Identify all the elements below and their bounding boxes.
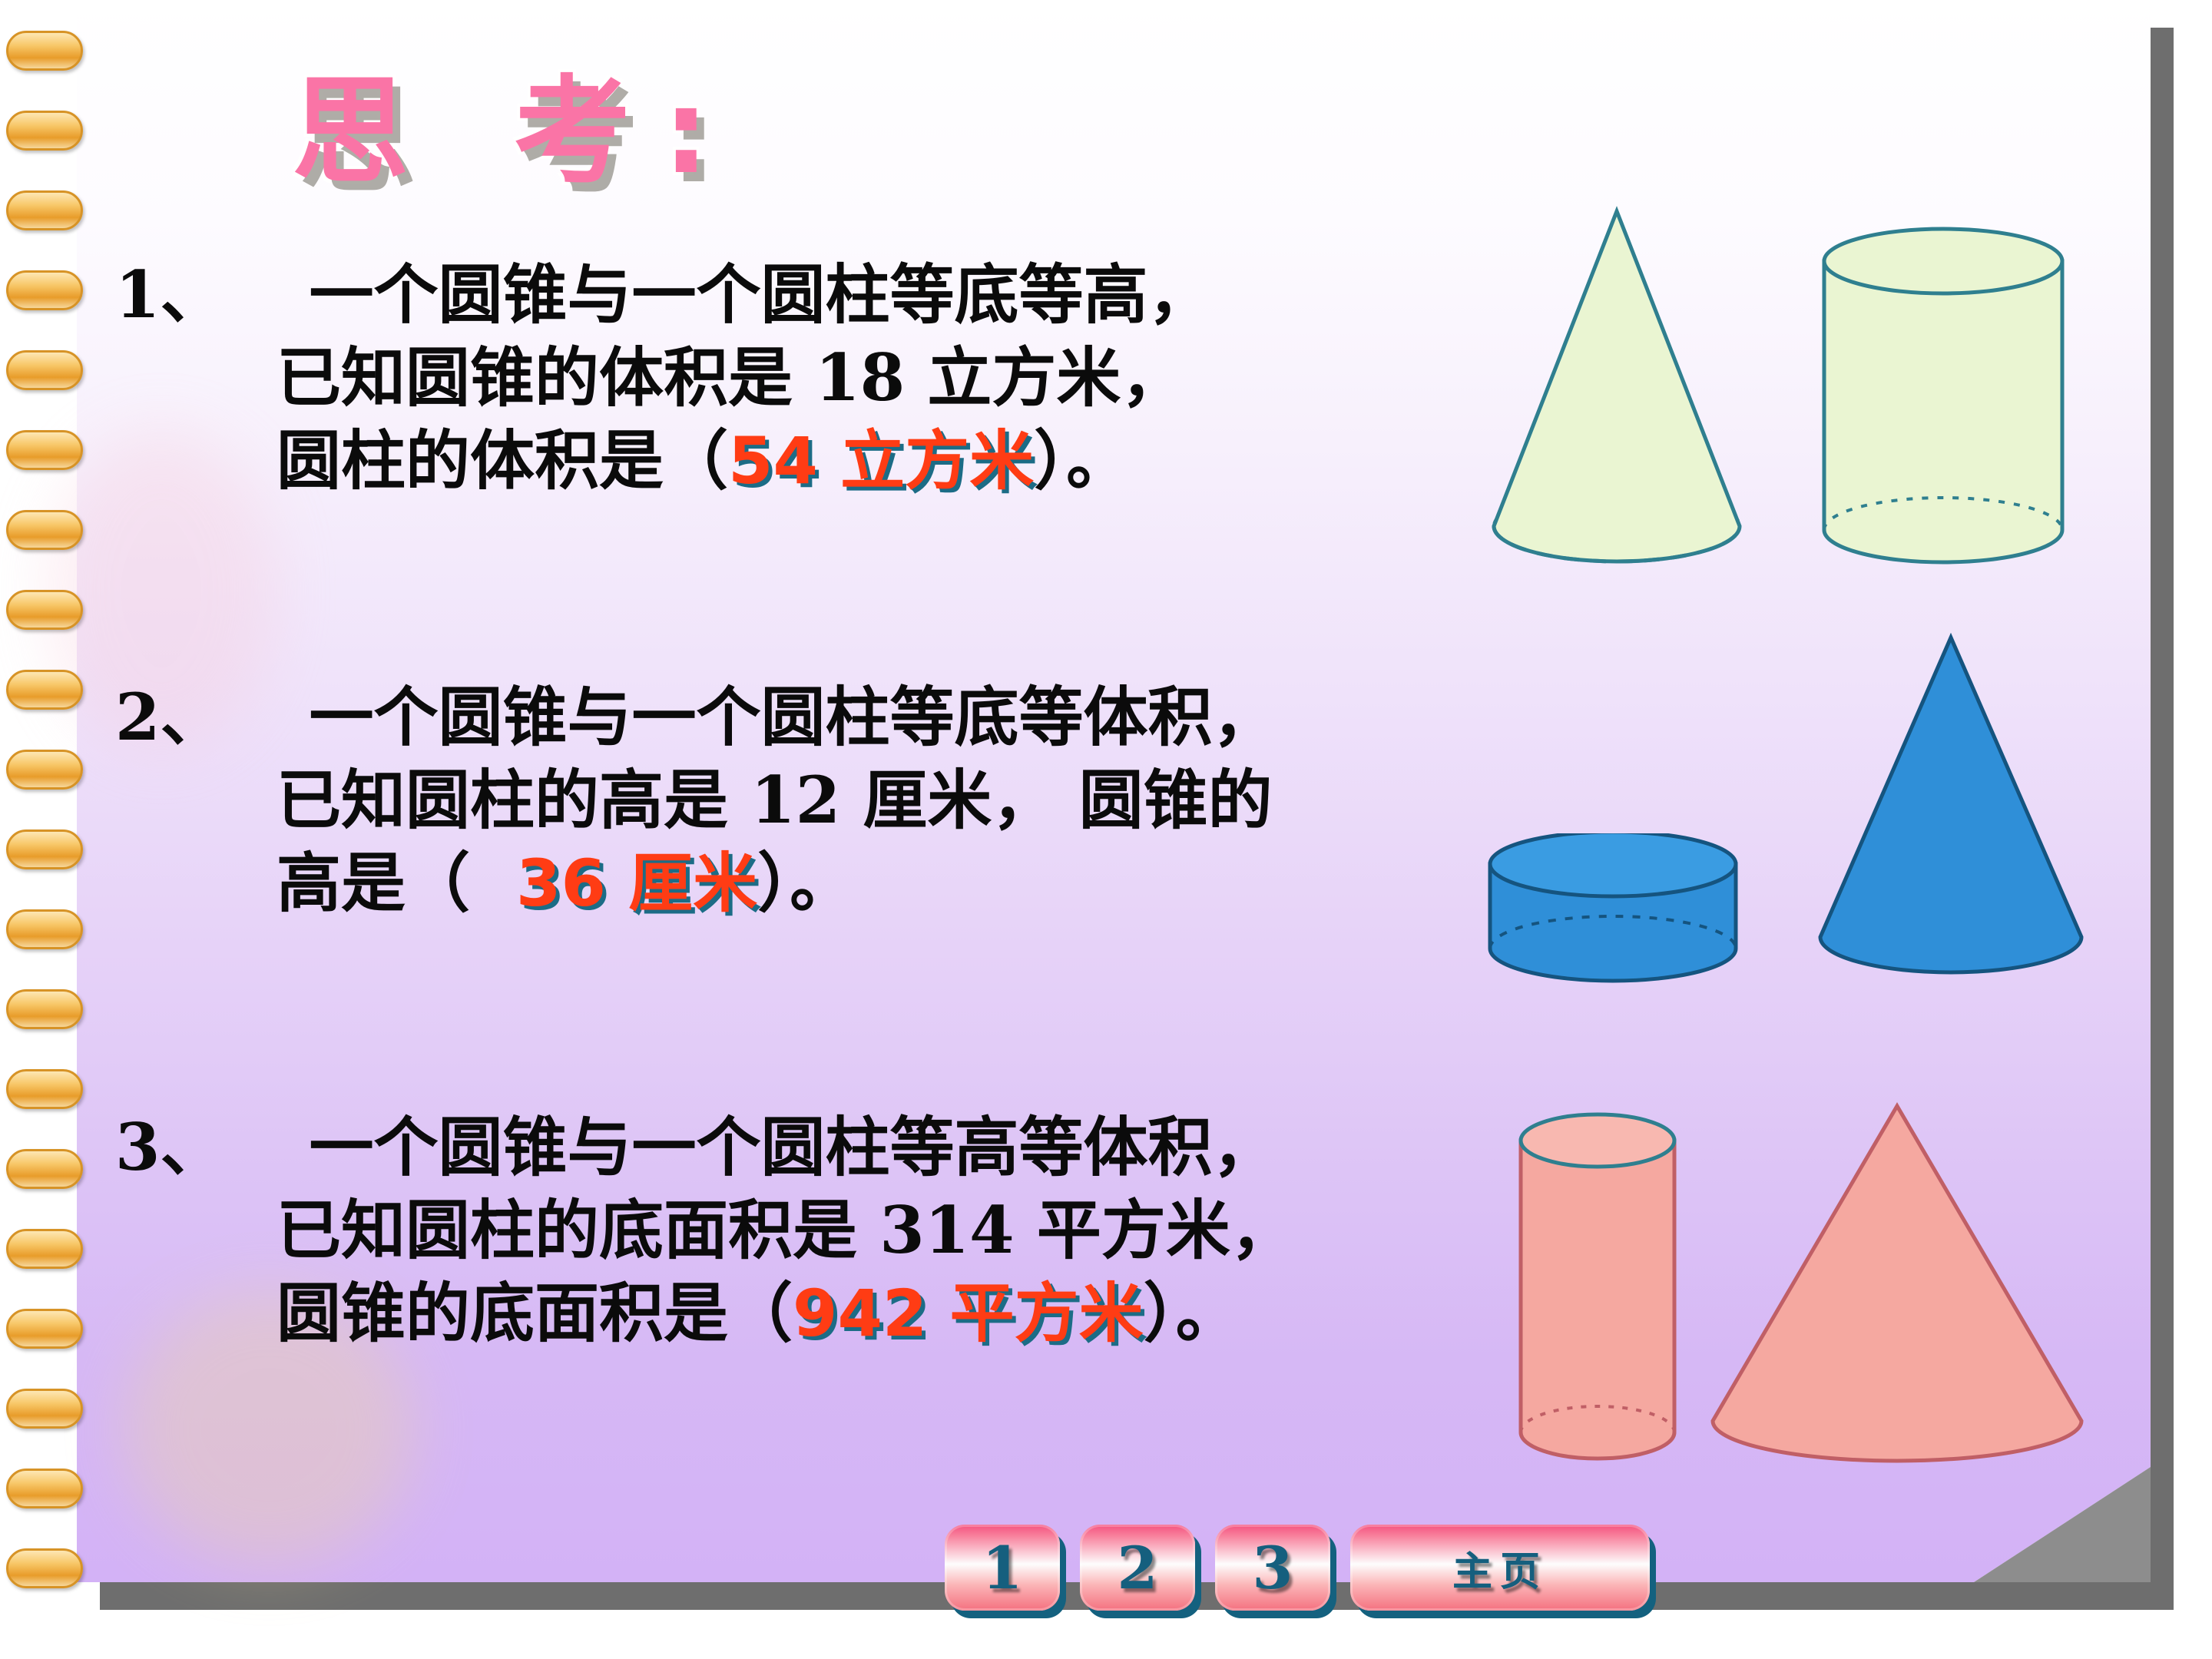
nav-button-1[interactable]: 1 — [945, 1525, 1060, 1611]
spiral-ring — [6, 111, 83, 151]
figure-cylinder-blue — [1479, 833, 1747, 995]
spiral-ring — [6, 750, 83, 790]
spiral-ring — [6, 1309, 83, 1349]
figure-cylinder-pink — [1498, 1106, 1697, 1490]
spiral-ring — [6, 350, 83, 390]
spiral-ring — [6, 909, 83, 949]
spiral-ring — [6, 989, 83, 1029]
question-3-line-1: 一个圆锥与一个圆柱等高等体积， — [309, 1109, 1277, 1185]
spiral-ring — [6, 1069, 83, 1109]
question-2-line-2: 已知圆柱的高是 12 厘米， 圆锥的 — [276, 762, 1273, 838]
spiral-ring — [6, 1389, 83, 1429]
slide-root: 思 考: 1、一个圆锥与一个圆柱等底等高， 已知圆锥的体积是 18 立方米， 圆… — [0, 0, 2212, 1659]
question-1-line-1: 一个圆锥与一个圆柱等底等高， — [309, 257, 1212, 333]
question-3-number: 3、 — [115, 1109, 224, 1185]
figure-cone-green — [1482, 196, 1790, 611]
figure-cone-blue — [1797, 626, 2104, 1010]
navigation-bar: 1 2 3 主页 — [945, 1525, 1650, 1611]
figure-cone-pink — [1682, 1091, 2112, 1490]
spiral-ring — [6, 430, 83, 470]
question-2-answer: 36 厘米 — [516, 846, 757, 921]
spiral-ring — [6, 190, 83, 230]
figure-cylinder-green — [1805, 219, 2081, 611]
question-3-line-2: 已知圆柱的底面积是 314 平方米， — [276, 1192, 1295, 1268]
spiral-ring — [6, 590, 83, 630]
question-1: 1、一个圆锥与一个圆柱等底等高， 已知圆锥的体积是 18 立方米， 圆柱的体积是… — [115, 253, 1212, 502]
spiral-ring — [6, 1469, 83, 1508]
question-1-line-2: 已知圆锥的体积是 18 立方米， — [276, 339, 1185, 416]
spiral-ring — [6, 270, 83, 310]
question-2: 2、一个圆锥与一个圆柱等底等体积， 已知圆柱的高是 12 厘米， 圆锥的 高是（… — [115, 676, 1277, 925]
page-title: 思 考: — [292, 37, 742, 206]
question-1-number: 1、 — [115, 257, 224, 333]
question-2-number: 2、 — [115, 679, 224, 755]
question-3-answer: 942 平方米 — [793, 1276, 1144, 1351]
question-2-answer-prefix: 高是（ — [276, 845, 470, 921]
question-2-line-1: 一个圆锥与一个圆柱等底等体积， — [309, 679, 1277, 755]
question-3-answer-prefix: 圆锥的底面积是（ — [276, 1275, 793, 1351]
nav-button-2[interactable]: 2 — [1080, 1525, 1195, 1611]
nav-button-3[interactable]: 3 — [1215, 1525, 1330, 1611]
spiral-ring — [6, 31, 83, 71]
question-1-answer-suffix: ）。 — [1034, 422, 1131, 498]
question-3-answer-suffix: ）。 — [1144, 1275, 1240, 1351]
question-1-answer: 54 立方米 — [728, 423, 1034, 498]
spiral-ring — [6, 1548, 83, 1588]
spiral-ring — [6, 670, 83, 710]
spiral-ring — [6, 510, 83, 550]
nav-button-home[interactable]: 主页 — [1350, 1525, 1650, 1611]
question-1-answer-prefix: 圆柱的体积是（ — [276, 422, 728, 498]
spiral-binding — [0, 0, 100, 1659]
spiral-ring — [6, 829, 83, 869]
spiral-ring — [6, 1229, 83, 1269]
question-3: 3、一个圆锥与一个圆柱等高等体积， 已知圆柱的底面积是 314 平方米， 圆锥的… — [115, 1106, 1295, 1355]
spiral-ring — [6, 1149, 83, 1189]
question-2-answer-suffix: ）。 — [757, 845, 854, 921]
